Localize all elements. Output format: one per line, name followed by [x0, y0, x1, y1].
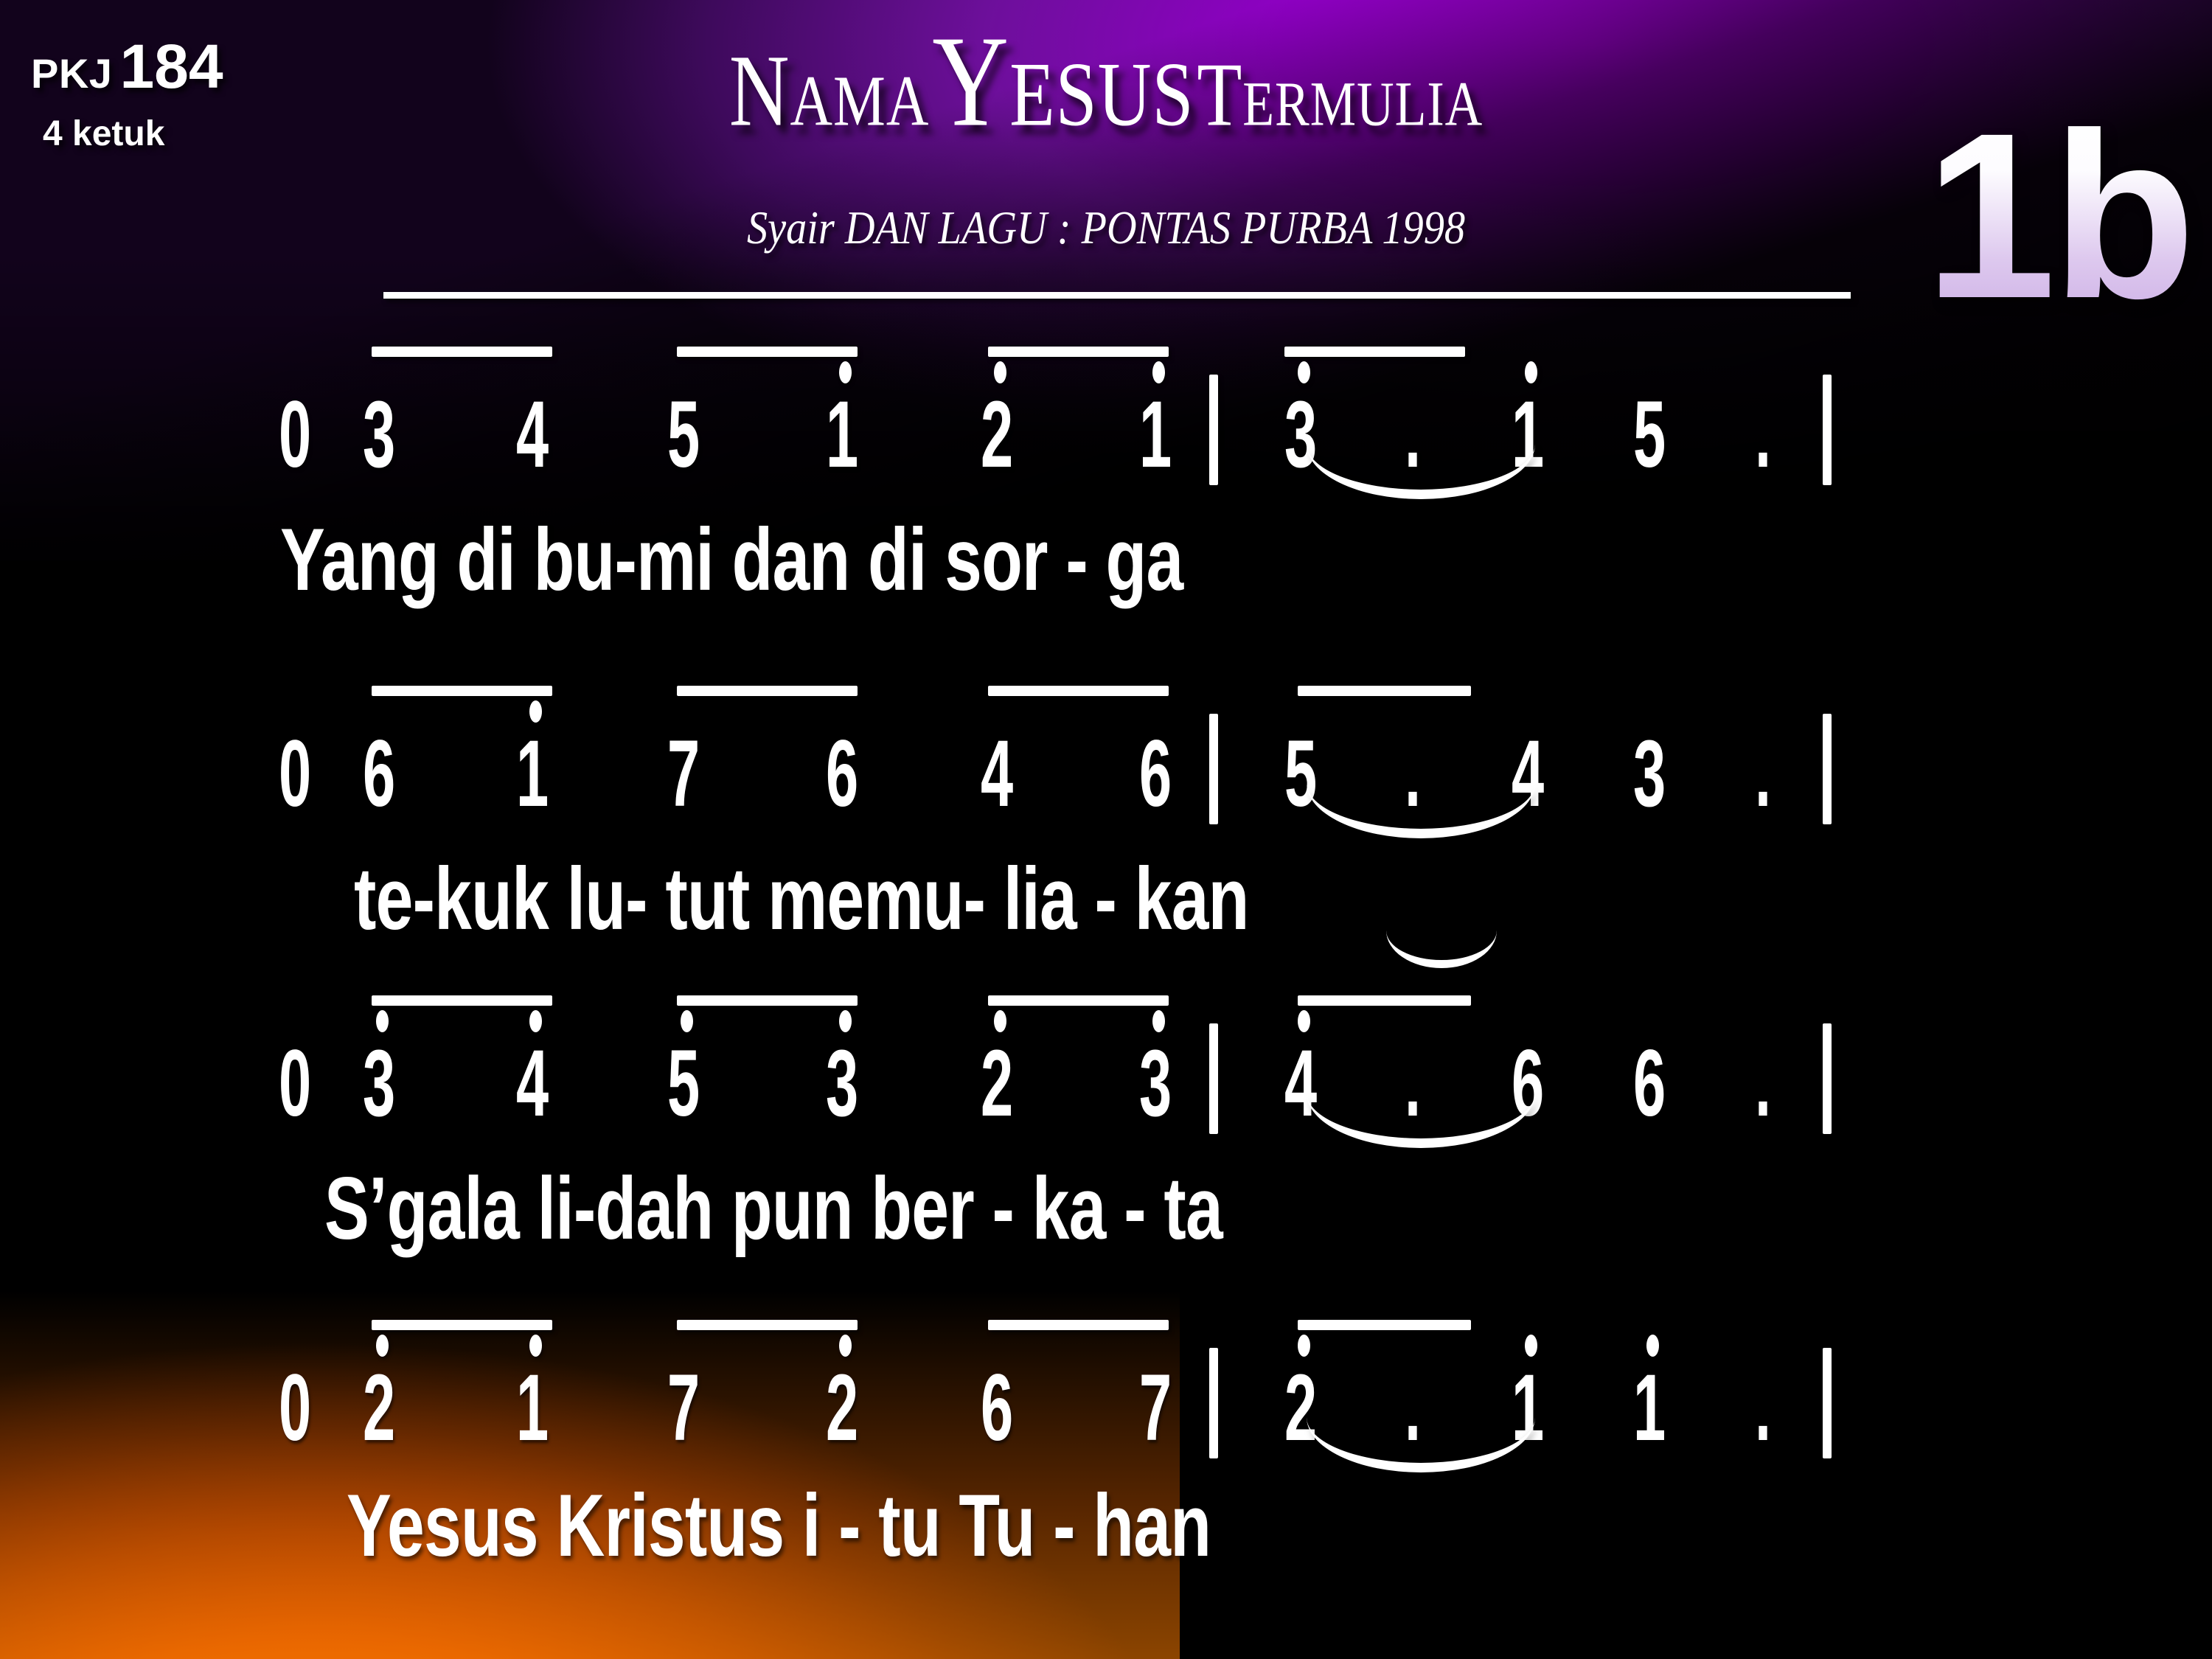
note-number: 7 — [667, 720, 700, 828]
beam-line — [988, 686, 1169, 696]
note-number: 3 — [363, 380, 395, 489]
note-number: 3 — [363, 1029, 395, 1138]
bar-line — [1209, 1348, 1218, 1458]
note-number: 3 — [1284, 380, 1317, 489]
lyric-line: Yang di bu-mi dan di sor - ga — [280, 509, 1183, 611]
octave-dot — [1298, 1335, 1310, 1357]
bar-line — [1209, 714, 1218, 824]
beam-line — [677, 995, 858, 1006]
octave-dot — [994, 361, 1006, 383]
note-number: 6 — [1633, 1029, 1666, 1138]
notation-system: 03453234.66. — [0, 995, 2212, 1135]
beam-line — [677, 686, 858, 696]
octave-dot — [994, 1010, 1006, 1032]
octave-dot — [839, 361, 852, 383]
note-row: 03451213.15. — [0, 347, 2212, 487]
beam-line — [1298, 995, 1471, 1006]
note-number: 5 — [1284, 720, 1317, 828]
bar-line — [1823, 1348, 1832, 1458]
slur-arc — [1307, 783, 1535, 838]
note-number: 3 — [1633, 720, 1666, 828]
bar-line — [1823, 375, 1832, 485]
note-number: 1 — [826, 380, 858, 489]
note-row: 02172672.11. — [0, 1320, 2212, 1460]
note-number: 2 — [826, 1354, 858, 1462]
octave-dot — [1298, 1010, 1310, 1032]
octave-dot — [529, 700, 542, 723]
note-number: 0 — [279, 1029, 311, 1138]
note-number: 4 — [1284, 1029, 1317, 1138]
beam-line — [677, 347, 858, 357]
octave-dot — [529, 1010, 542, 1032]
note-row: 06176465.43. — [0, 686, 2212, 826]
lyric-line: te-kuk lu- tut memu- lia - kan — [354, 848, 1249, 950]
lyric-line: Yesus Kristus i - tu Tu - han — [347, 1475, 1211, 1576]
duration-dot: . — [1755, 720, 1771, 828]
note-number: 1 — [516, 1354, 549, 1462]
note-number: 5 — [1633, 380, 1666, 489]
octave-dot — [1152, 361, 1165, 383]
beam-line — [1284, 347, 1465, 357]
lyric-line: S’gala li-dah pun ber - ka - ta — [324, 1158, 1222, 1259]
bar-line — [1823, 714, 1832, 824]
note-number: 5 — [667, 1029, 700, 1138]
composer-credit: Syair DAN LAGU : PONTAS PURBA 1998 — [133, 201, 2079, 255]
note-number: 2 — [981, 1029, 1013, 1138]
note-number: 1 — [516, 720, 549, 828]
melisma-underline — [1386, 931, 1497, 968]
note-number: 3 — [1139, 1029, 1172, 1138]
bar-line — [1823, 1023, 1832, 1134]
title-word-yesus: Yesus — [932, 10, 1194, 154]
page-title: Nama Yesus Termulia — [44, 16, 2168, 147]
note-number: 6 — [363, 720, 395, 828]
beam-line — [677, 1320, 858, 1330]
octave-dot — [681, 1010, 693, 1032]
note-number: 4 — [981, 720, 1013, 828]
note-number: 1 — [1633, 1354, 1666, 1462]
beam-line — [372, 347, 552, 357]
beam-line — [1298, 686, 1471, 696]
beam-line — [988, 1320, 1169, 1330]
bar-line — [1209, 375, 1218, 485]
octave-dot — [376, 1010, 389, 1032]
note-number: 2 — [981, 380, 1013, 489]
octave-dot — [839, 1010, 852, 1032]
note-number: 3 — [826, 1029, 858, 1138]
title-word-termulia: Termulia — [1197, 45, 1483, 145]
octave-dot — [529, 1335, 542, 1357]
duration-dot: . — [1755, 1354, 1771, 1462]
beam-line — [988, 347, 1169, 357]
note-number: 7 — [667, 1354, 700, 1462]
duration-dot: . — [1755, 1029, 1771, 1138]
beam-line — [1298, 1320, 1471, 1330]
beam-line — [372, 686, 552, 696]
octave-dot — [1525, 1335, 1537, 1357]
note-number: 6 — [981, 1354, 1013, 1462]
bar-line — [1209, 1023, 1218, 1134]
title-divider — [383, 292, 1851, 299]
note-number: 0 — [279, 720, 311, 828]
note-number: 2 — [1284, 1354, 1317, 1462]
note-number: 4 — [516, 1029, 549, 1138]
duration-dot: . — [1755, 380, 1771, 489]
octave-dot — [376, 1335, 389, 1357]
octave-dot — [1152, 1010, 1165, 1032]
octave-dot — [1646, 1335, 1659, 1357]
octave-dot — [839, 1335, 852, 1357]
note-number: 6 — [1139, 720, 1172, 828]
hymn-slide: PKJ184 4 ketuk Nama Yesus Termulia Syair… — [0, 0, 2212, 1659]
title-word-nama: Nama — [729, 34, 930, 148]
verse-badge: 1b — [1925, 103, 2191, 327]
beam-line — [988, 995, 1169, 1006]
note-number: 0 — [279, 380, 311, 489]
note-number: 6 — [826, 720, 858, 828]
notation-system: 03451213.15. — [0, 347, 2212, 487]
note-number: 4 — [516, 380, 549, 489]
note-number: 5 — [667, 380, 700, 489]
note-number: 7 — [1139, 1354, 1172, 1462]
octave-dot — [1525, 361, 1537, 383]
note-number: 2 — [363, 1354, 395, 1462]
beam-line — [372, 1320, 552, 1330]
note-number: 0 — [279, 1354, 311, 1462]
note-row: 03453234.66. — [0, 995, 2212, 1135]
beam-line — [372, 995, 552, 1006]
octave-dot — [1298, 361, 1310, 383]
notation-system: 06176465.43. — [0, 686, 2212, 826]
note-number: 1 — [1139, 380, 1172, 489]
notation-system: 02172672.11. — [0, 1320, 2212, 1460]
